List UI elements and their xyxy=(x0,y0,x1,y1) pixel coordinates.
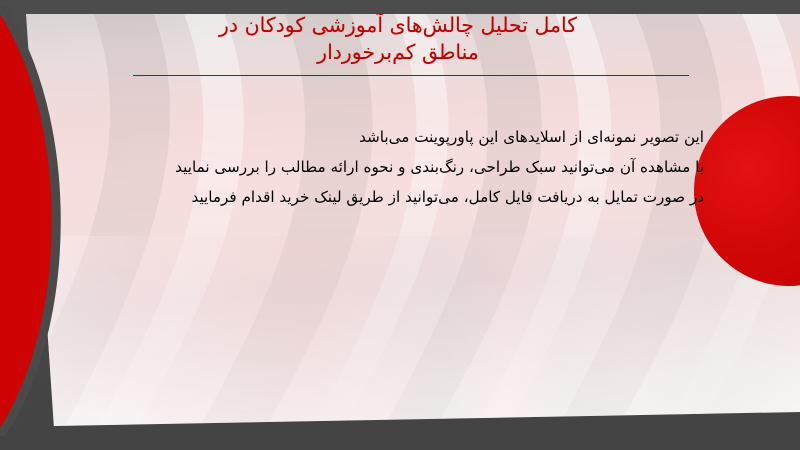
slide-title: کامل تحلیل چالش‌های آموزشی کودکان در منا… xyxy=(108,12,688,66)
body-line-1: این تصویر نمونه‌ای از اسلایدهای این پاور… xyxy=(92,122,704,152)
title-underline-rule xyxy=(133,75,689,76)
red-lens-shape xyxy=(0,6,118,436)
body-line-2: با مشاهده آن می‌توانید سبک طراحی، رنگ‌بن… xyxy=(92,152,704,182)
presentation-slide: کامل تحلیل چالش‌های آموزشی کودکان در منا… xyxy=(0,0,800,450)
background-tonal-bands xyxy=(26,236,800,426)
body-line-3: در صورت تمایل به دریافت فایل کامل، می‌تو… xyxy=(92,182,704,212)
slide-body: این تصویر نمونه‌ای از اسلایدهای این پاور… xyxy=(92,122,704,212)
slide-title-text: کامل تحلیل چالش‌های آموزشی کودکان در منا… xyxy=(108,12,688,66)
